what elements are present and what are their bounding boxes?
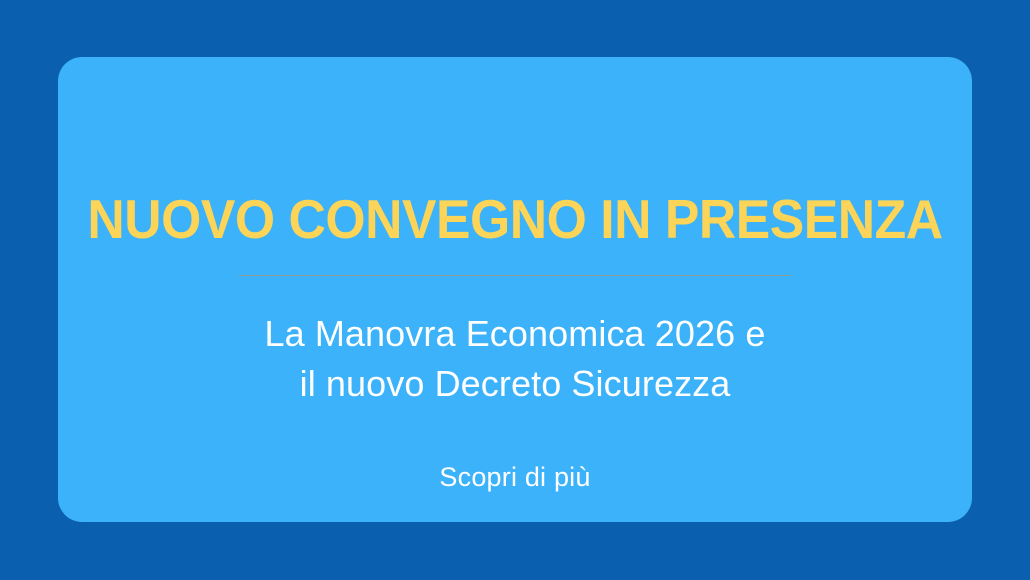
promo-card[interactable]: NUOVO CONVEGNO IN PRESENZA La Manovra Ec… [58,57,972,522]
subtitle-line-1: La Manovra Economica 2026 e [58,309,972,359]
page-title: NUOVO CONVEGNO IN PRESENZA [85,188,944,250]
discover-more-link[interactable]: Scopri di più [58,459,972,495]
subtitle-line-2: il nuovo Decreto Sicurezza [58,359,972,409]
divider [58,275,972,276]
divider-line [239,275,791,276]
promo-banner: NUOVO CONVEGNO IN PRESENZA La Manovra Ec… [0,0,1030,580]
subtitle: La Manovra Economica 2026 e il nuovo Dec… [58,309,972,409]
